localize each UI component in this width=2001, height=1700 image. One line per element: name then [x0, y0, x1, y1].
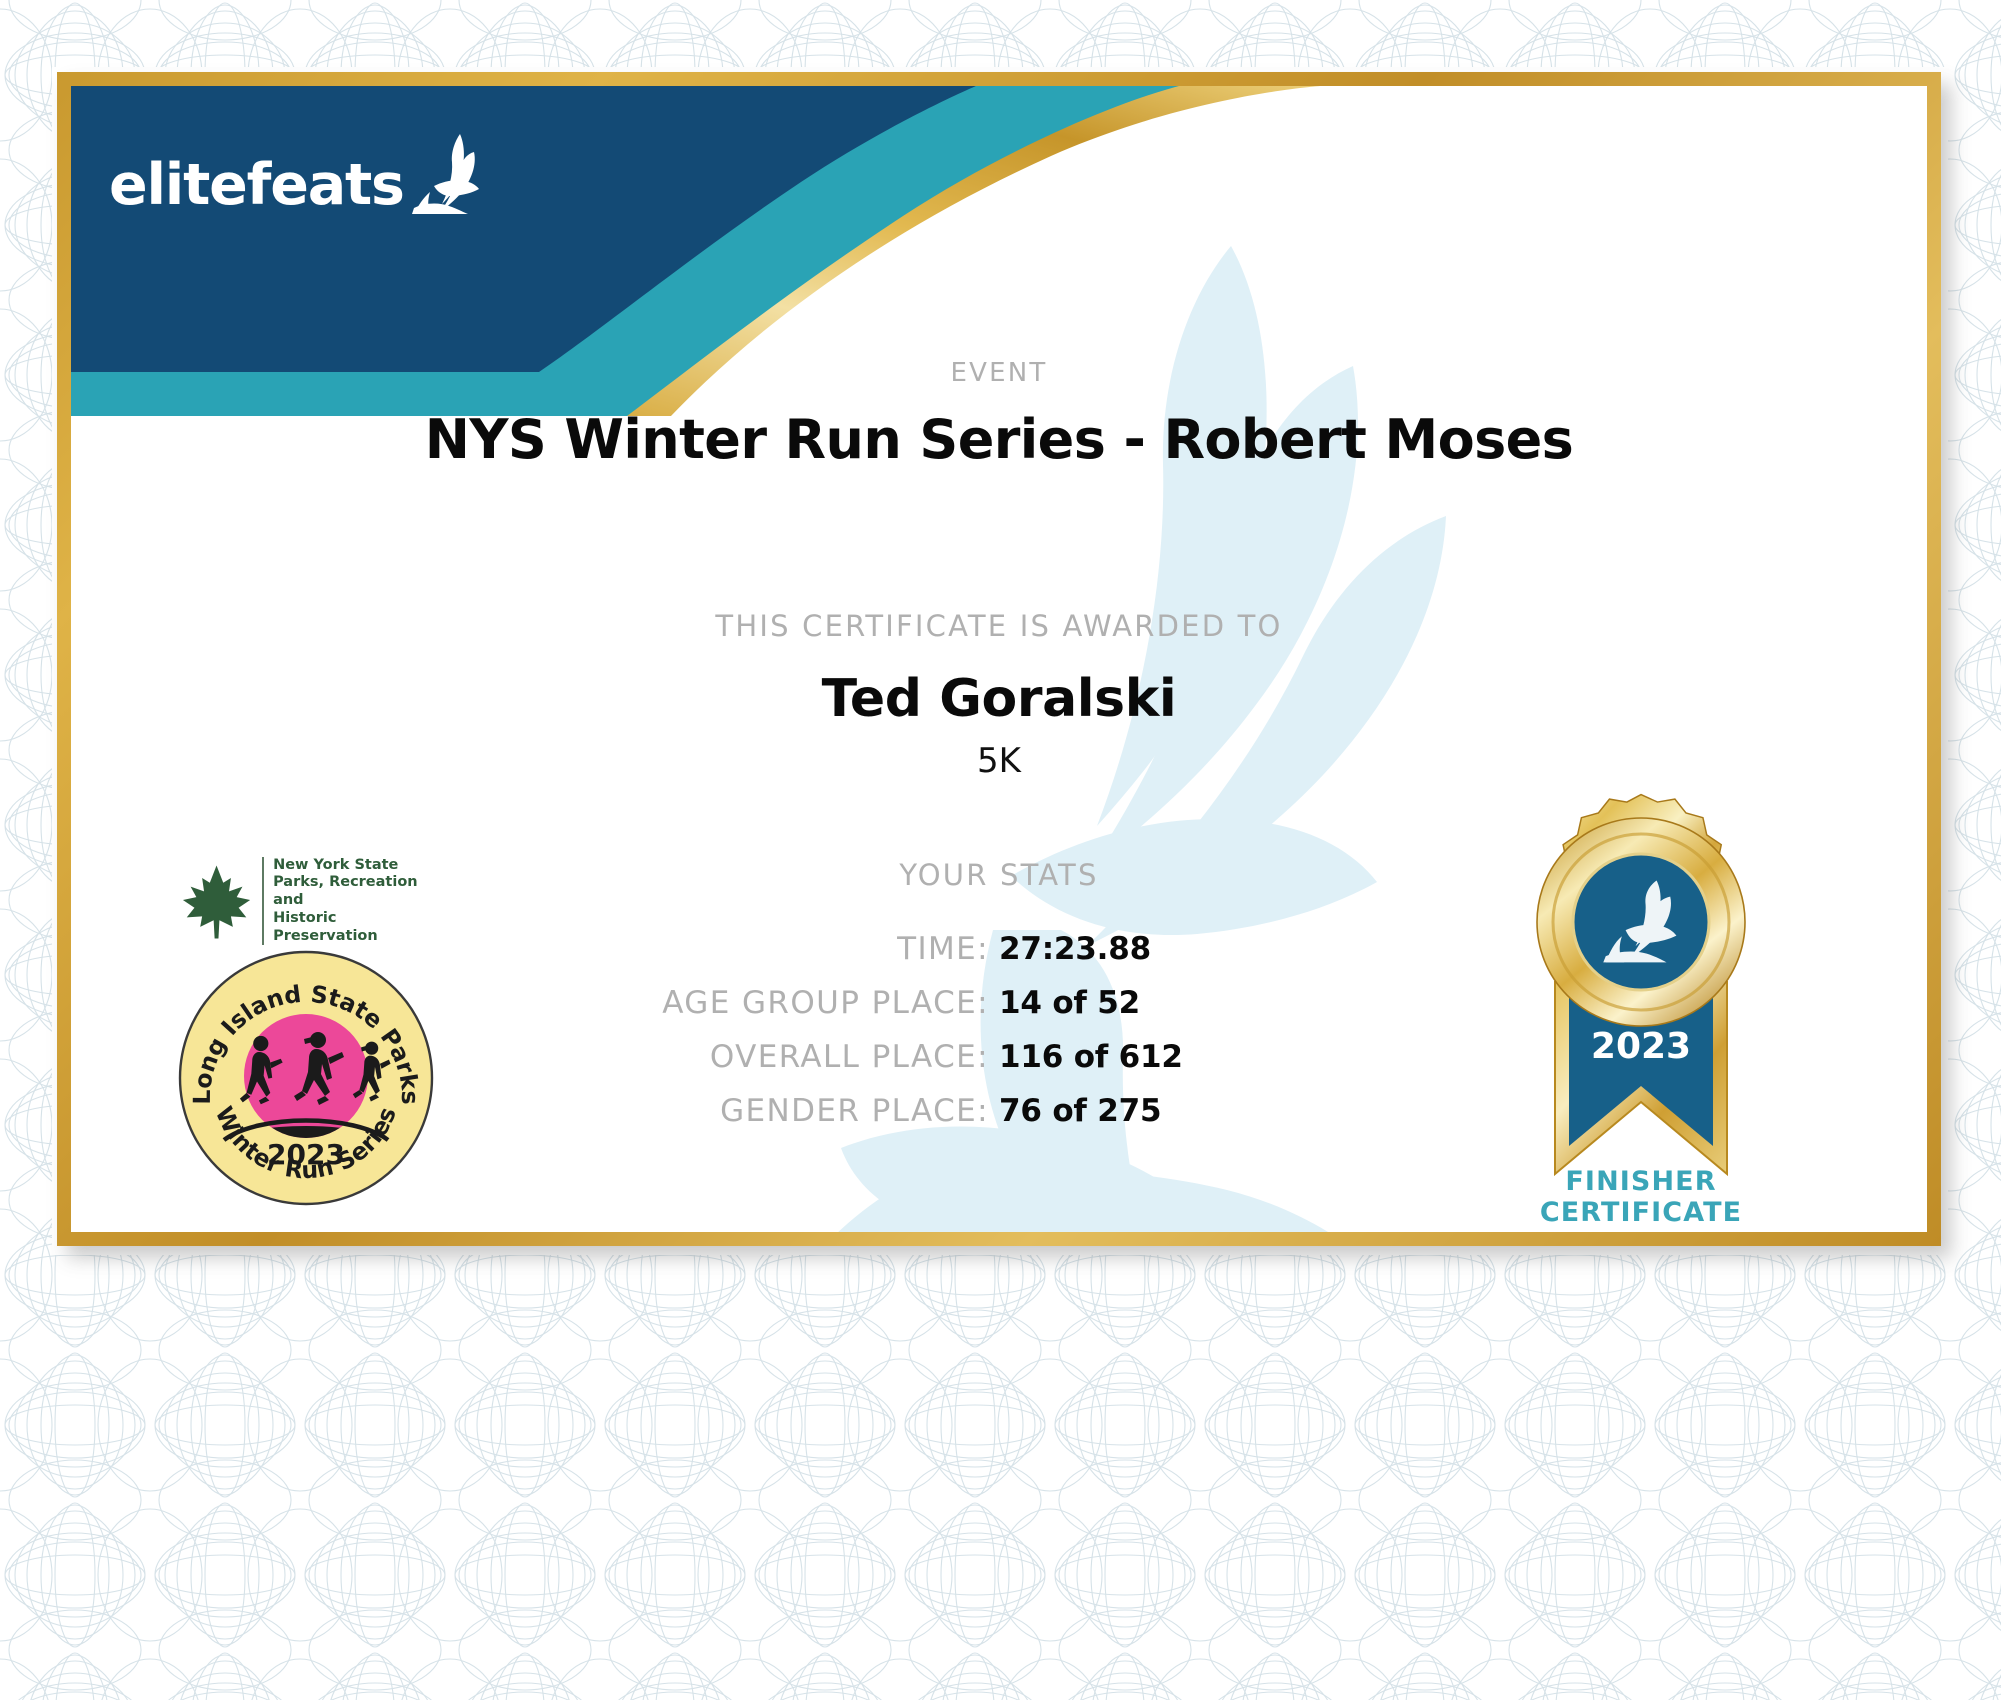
finisher-line-2: CERTIFICATE	[1481, 1197, 1801, 1228]
nys-parks-text: New York State Parks, Recreation and His…	[262, 857, 446, 945]
agency-line-3: Historic Preservation	[273, 910, 446, 945]
stat-key: TIME:	[389, 931, 999, 967]
recipient-name: Ted Goralski	[71, 669, 1927, 729]
finisher-medal: 2023	[1481, 786, 1801, 1206]
maple-leaf-icon	[181, 862, 252, 940]
medal-year: 2023	[1591, 1026, 1691, 1067]
gold-rosette-icon	[1537, 795, 1745, 1026]
nys-parks-logo: New York State Parks, Recreation and His…	[181, 862, 446, 940]
stat-key: GENDER PLACE:	[389, 1093, 999, 1129]
certificate-card: elitefeats EVENT NYS Winter Run Series -…	[71, 86, 1927, 1232]
brand-wordmark: elitefeats	[109, 157, 404, 214]
winter-run-series-badge: 2023 Long Island State Parks Winter Run …	[176, 948, 436, 1208]
agency-line-2: Parks, Recreation and	[273, 874, 446, 909]
awarded-to-label: THIS CERTIFICATE IS AWARDED TO	[71, 609, 1927, 643]
stat-key: OVERALL PLACE:	[389, 1039, 999, 1075]
event-title: NYS Winter Run Series - Robert Moses	[71, 408, 1927, 471]
finisher-line-1: FINISHER	[1481, 1166, 1801, 1197]
race-distance: 5K	[71, 741, 1927, 781]
event-label: EVENT	[71, 358, 1927, 388]
elitefeats-logo: elitefeats	[109, 132, 484, 214]
winged-foot-icon	[408, 132, 484, 214]
finisher-certificate-caption: FINISHER CERTIFICATE	[1481, 1166, 1801, 1229]
certificate-page: elitefeats EVENT NYS Winter Run Series -…	[0, 0, 2001, 1700]
certificate-gold-border: elitefeats EVENT NYS Winter Run Series -…	[57, 72, 1941, 1246]
agency-line-1: New York State	[273, 857, 446, 875]
stat-key: AGE GROUP PLACE:	[389, 985, 999, 1021]
